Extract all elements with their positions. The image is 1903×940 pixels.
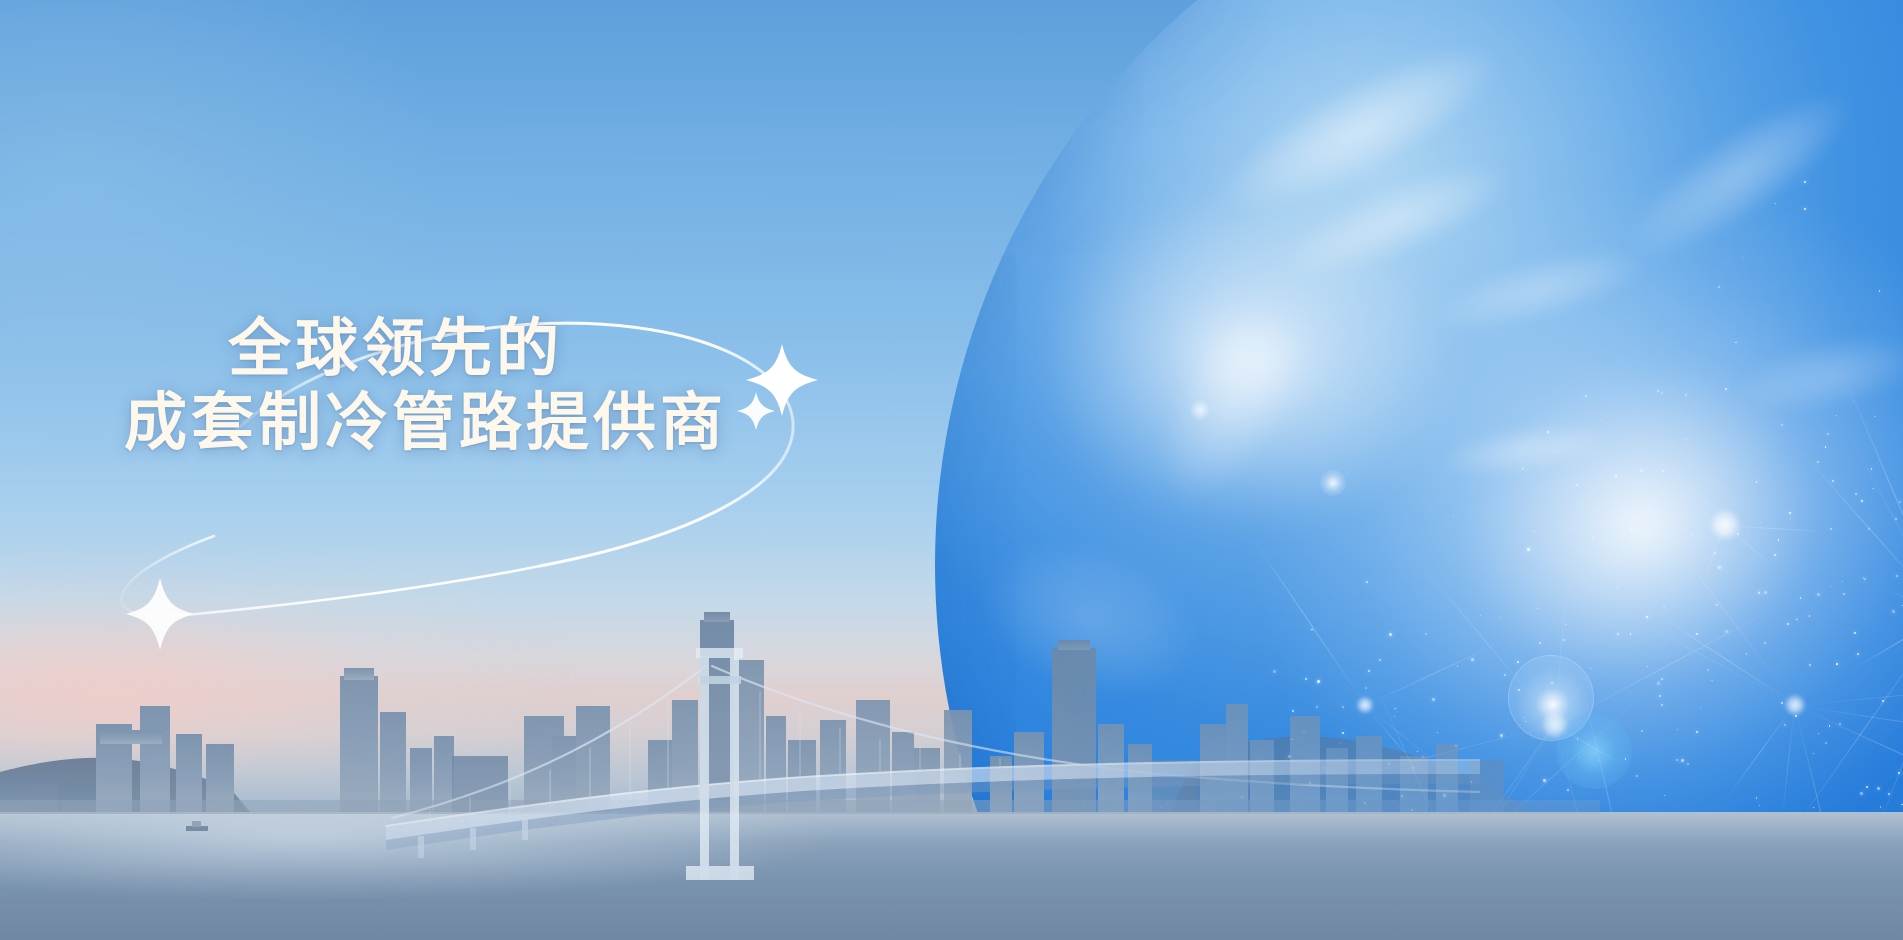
sparkle-star-left (126, 578, 194, 650)
headline-block: 全球领先的 成套制冷管路提供商 (124, 312, 824, 460)
headline-line-1: 全球领先的 (228, 312, 824, 386)
headline-line-2: 成套制冷管路提供商 (124, 386, 824, 460)
hero-banner: 全球领先的 成套制冷管路提供商 (0, 0, 1903, 940)
orbit-swoosh-line (0, 0, 1903, 940)
